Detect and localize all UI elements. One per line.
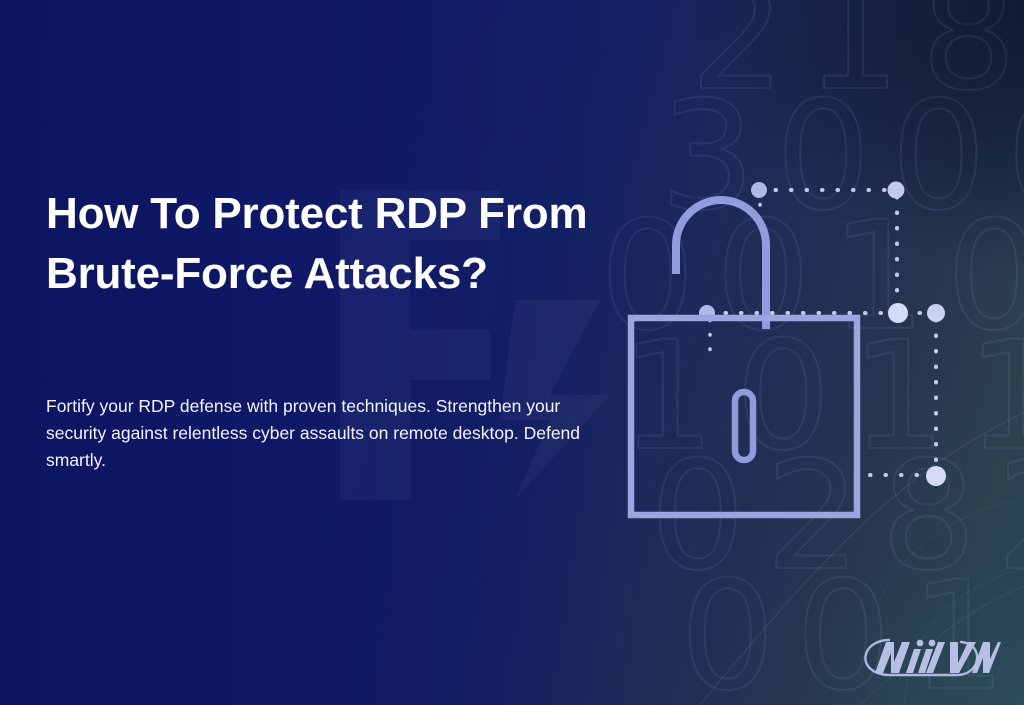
padlock-outline xyxy=(631,200,857,515)
nilivm-wordmark-logo[interactable] xyxy=(853,628,1001,682)
lock-body xyxy=(631,318,857,515)
hero-banner: 21820000100 30000020010 00100101000 1011… xyxy=(0,0,1024,705)
circuit-node xyxy=(751,182,767,198)
circuit-node xyxy=(927,304,945,322)
open-padlock-icon xyxy=(600,165,1000,535)
keyhole-slot xyxy=(735,392,753,460)
subtitle-text: Fortify your RDP defense with proven tec… xyxy=(46,393,606,474)
circuit-node xyxy=(888,303,908,323)
circuit-node xyxy=(888,182,905,199)
circuit-node xyxy=(926,466,946,486)
